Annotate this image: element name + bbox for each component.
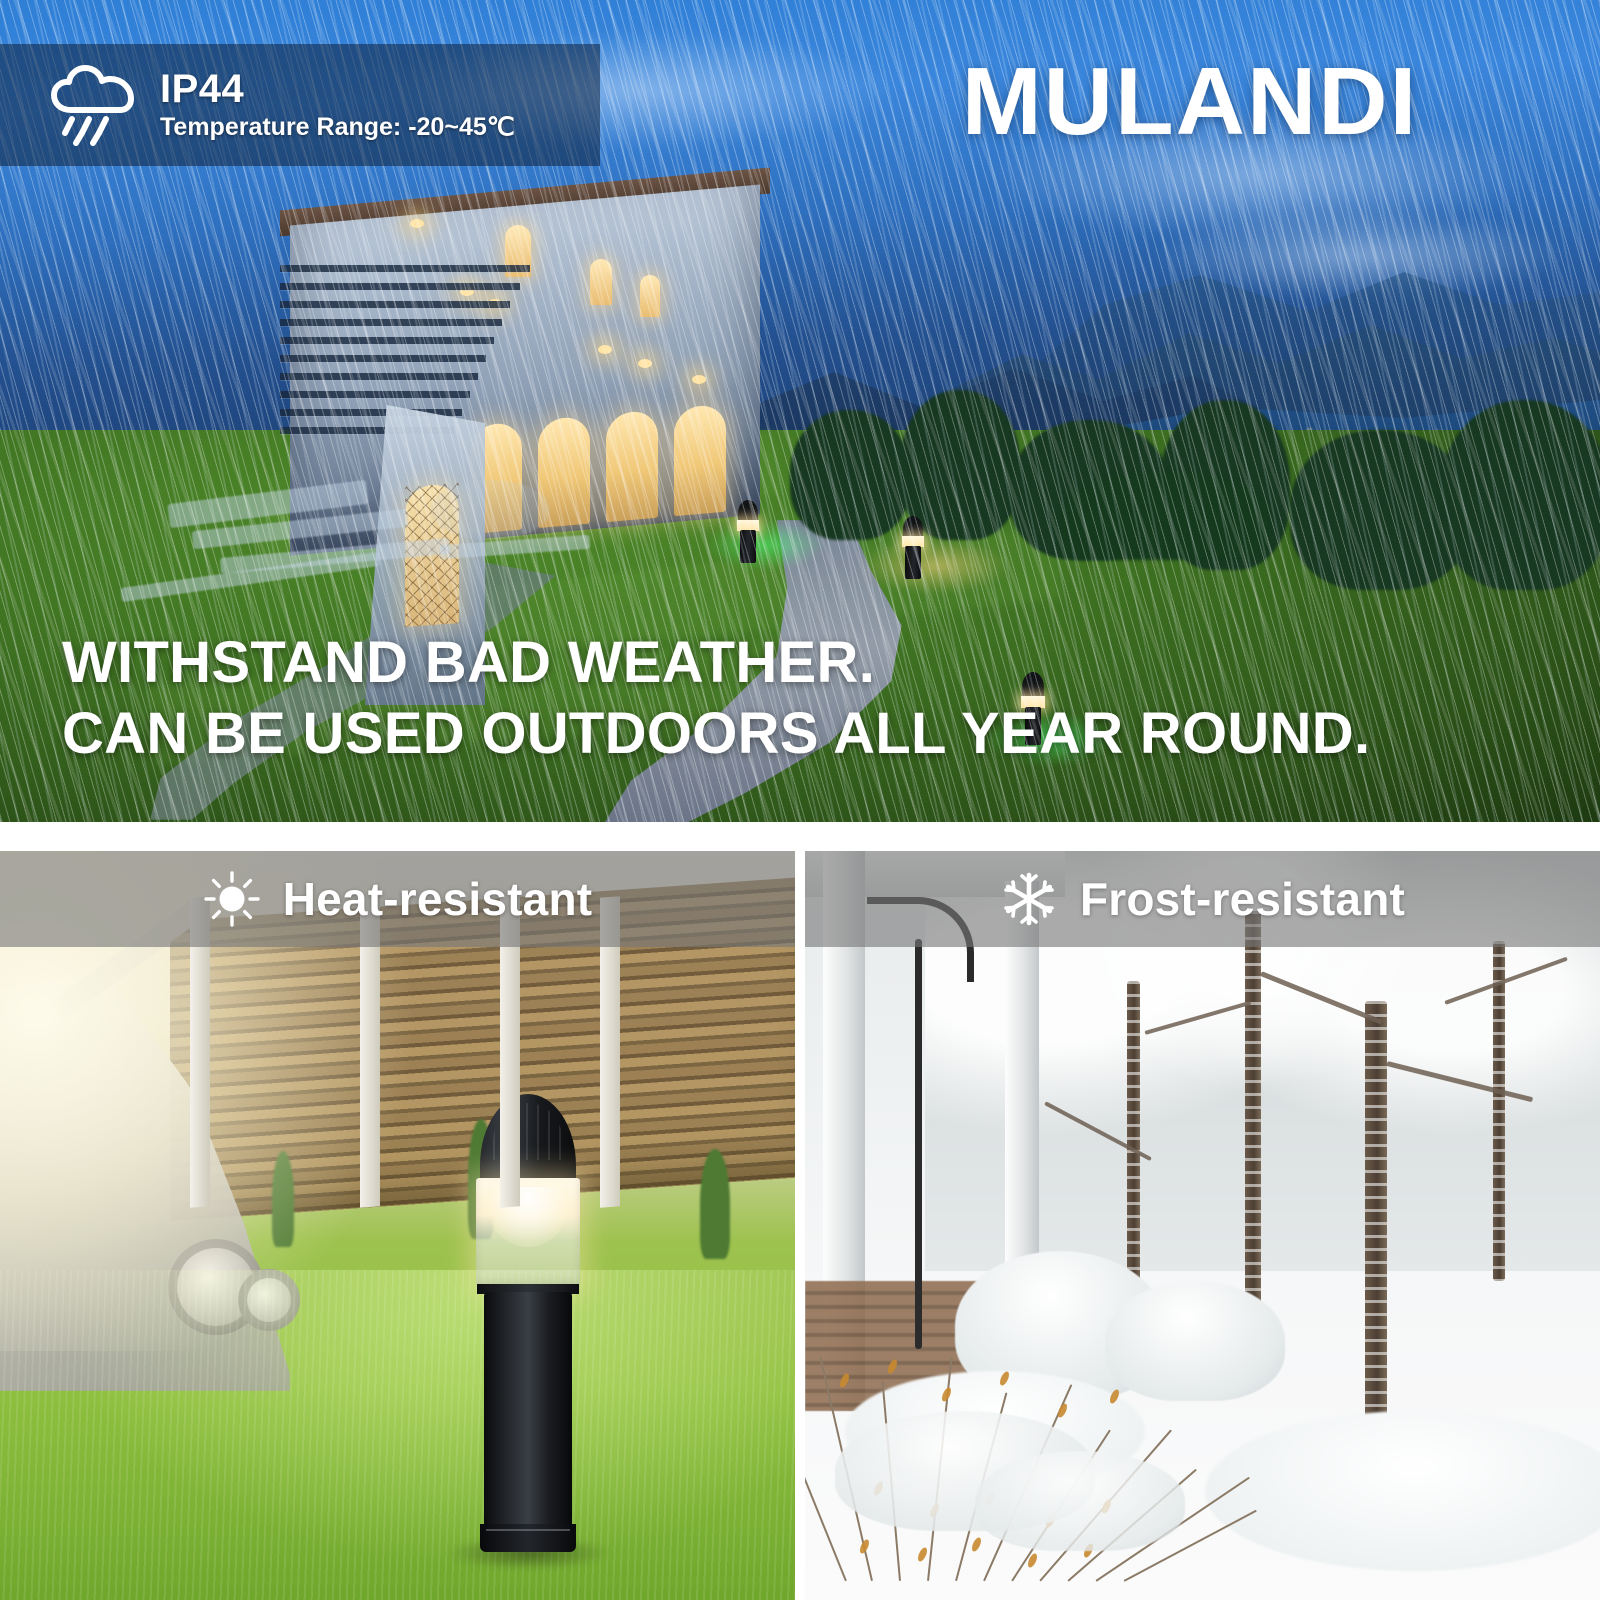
lit-window (640, 275, 660, 317)
rain-cloud-icon (46, 63, 142, 147)
grass-highlight (0, 1270, 795, 1600)
panel-label-text: Heat-resistant (283, 872, 593, 926)
shepherd-hook (863, 879, 949, 1349)
headline-line-1: WITHSTAND BAD WEATHER. (62, 628, 1532, 699)
panel-heat-resistant: Heat-resistant (0, 851, 795, 1600)
lamp-cap (903, 516, 923, 538)
lamp-dome-cap (480, 1094, 576, 1186)
tree-trunk (1365, 1001, 1387, 1451)
lamp-glow-green (705, 520, 825, 570)
ip-rating-value: IP44 (160, 68, 515, 110)
product-bollard-light (480, 1094, 576, 1564)
snow-mound (1205, 1411, 1600, 1571)
panel-label-frost: Frost-resistant (805, 851, 1600, 947)
lit-arch (606, 410, 658, 523)
lit-arch (674, 404, 726, 517)
lamp-post (740, 530, 755, 563)
hero-rain-scene: IP44 Temperature Range: -20~45℃ MULANDI … (0, 0, 1600, 822)
tree-trunk (1245, 911, 1261, 1311)
pathway-bollard-light (738, 500, 758, 562)
panel-frost-resistant: Frost-resistant (805, 851, 1600, 1600)
snowflake-icon (1000, 870, 1058, 928)
lamp-cap (738, 500, 758, 522)
lamp-body (484, 1292, 572, 1532)
shrub (700, 1149, 730, 1259)
lit-window (590, 259, 612, 305)
tree (790, 410, 910, 540)
lamp-base (480, 1524, 576, 1552)
sun-icon (203, 870, 261, 928)
wall-light (638, 359, 652, 368)
wall-light (598, 345, 612, 354)
brand-name: MULANDI (962, 54, 1419, 150)
lamp-post (905, 546, 920, 579)
ip-rating-badge: IP44 Temperature Range: -20~45℃ (0, 44, 600, 166)
lamp-light-lens (476, 1178, 580, 1286)
lamp-glow-warm (860, 538, 1010, 594)
product-marketing-image: IP44 Temperature Range: -20~45℃ MULANDI … (0, 0, 1600, 1600)
panel-label-heat: Heat-resistant (0, 851, 795, 947)
pathway-bollard-light (903, 516, 923, 578)
wall-light (410, 219, 424, 228)
wall-light (692, 375, 706, 384)
brand-logo: MULANDI (860, 42, 1520, 162)
snow-on-grass (975, 1451, 1185, 1551)
tree-trunk (1493, 941, 1505, 1281)
feature-panels: Heat-resistant (0, 851, 1600, 1600)
patio-umbrella (430, 480, 550, 540)
tree (1440, 400, 1600, 590)
panel-label-text: Frost-resistant (1080, 872, 1405, 926)
headline: WITHSTAND BAD WEATHER. CAN BE USED OUTDO… (62, 628, 1532, 770)
temperature-range-text: Temperature Range: -20~45℃ (160, 112, 515, 142)
shrub (272, 1151, 294, 1247)
headline-line-2: CAN BE USED OUTDOORS ALL YEAR ROUND. (62, 699, 1532, 770)
hedge (1060, 470, 1270, 560)
